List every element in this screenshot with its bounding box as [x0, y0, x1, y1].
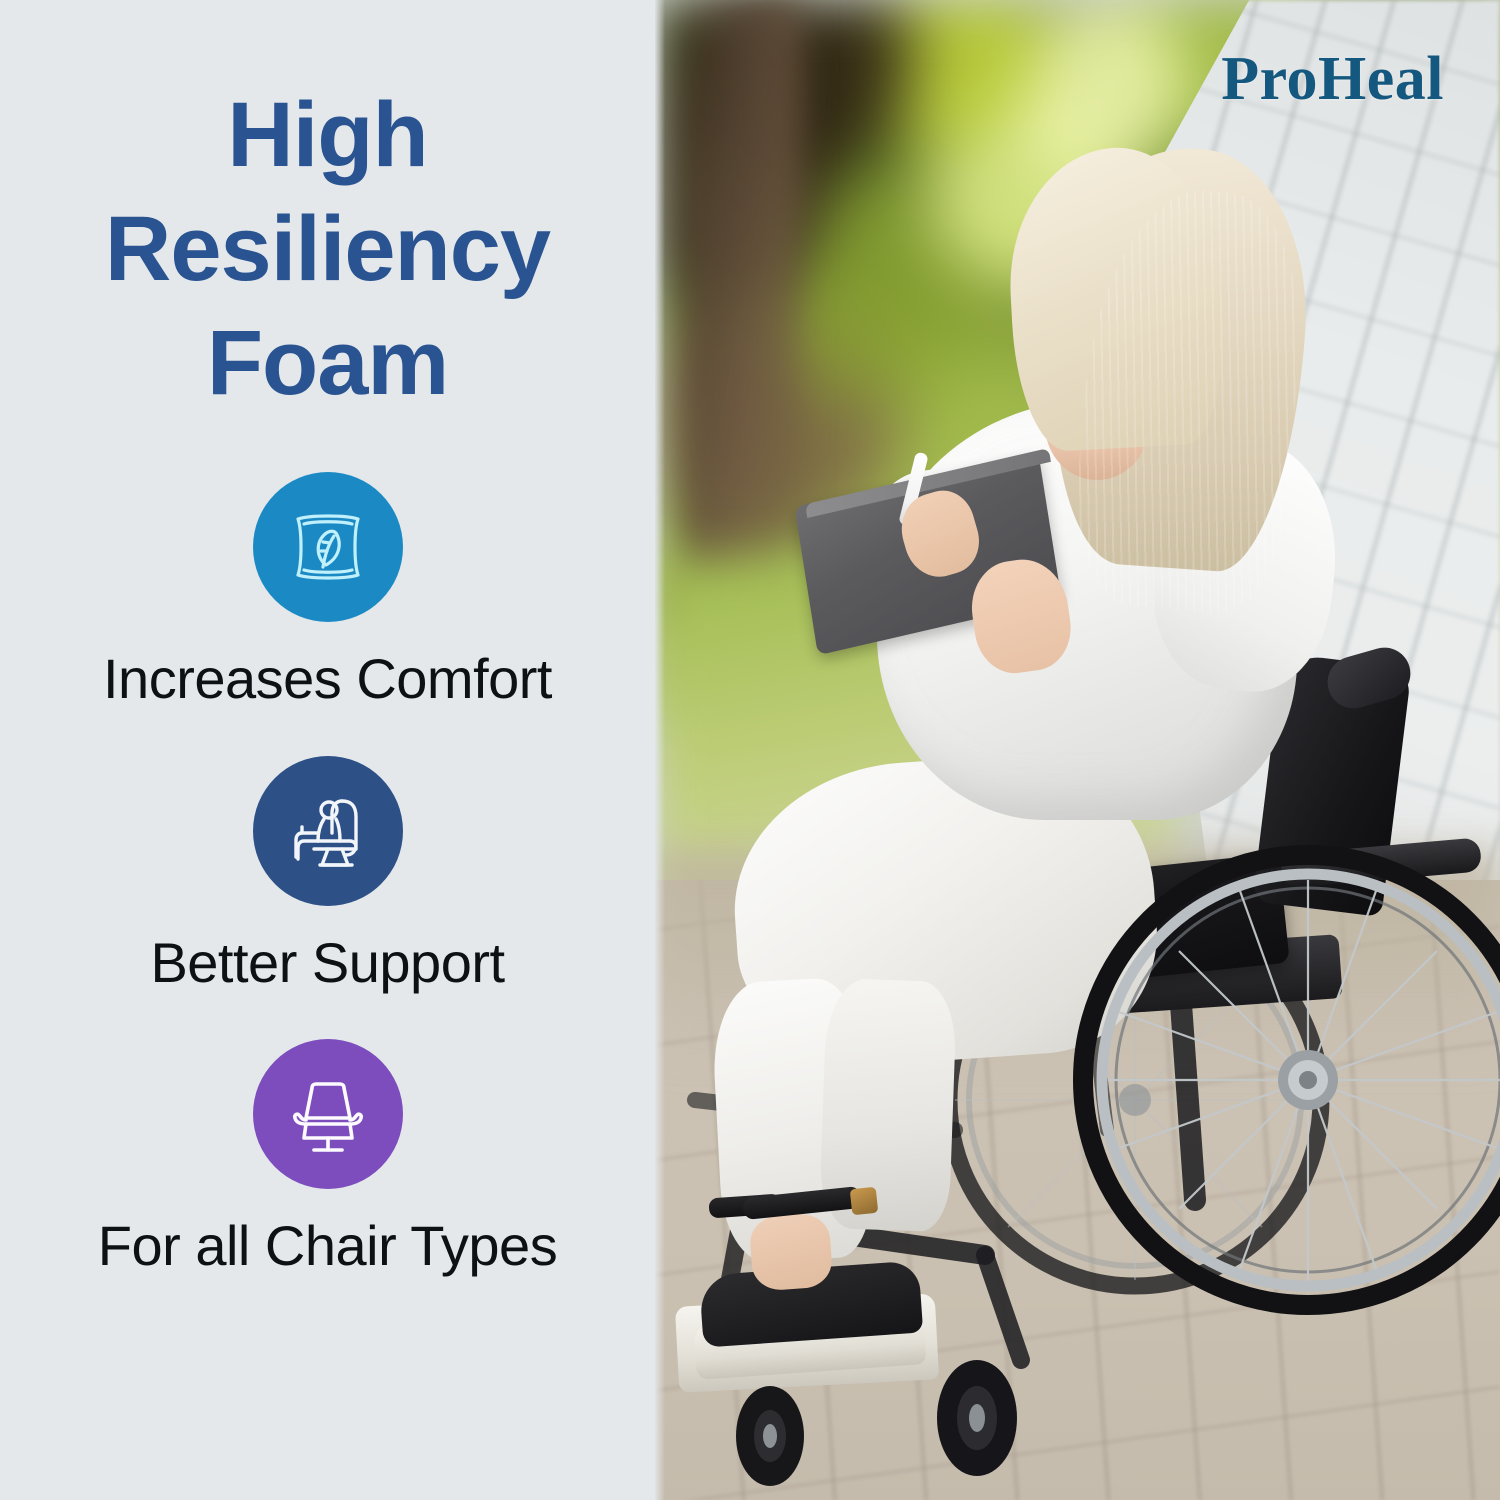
headline-line-3: Foam: [48, 306, 608, 420]
brand-logo: ProHeal: [1221, 48, 1444, 110]
person-ankle: [749, 1212, 834, 1291]
feature-list: Increases Comfort: [0, 472, 655, 1277]
headline-line-1: High: [48, 78, 608, 192]
left-info-panel: High Resiliency Foam: [0, 0, 655, 1500]
feature-item-better-support: Better Support: [0, 756, 655, 994]
feature-label-3: For all Chair Types: [98, 1215, 557, 1277]
wheelchair-rear-wheel: [1073, 845, 1500, 1315]
product-feature-graphic: High Resiliency Foam: [0, 0, 1500, 1500]
feature-item-for-all-chair-types: For all Chair Types: [0, 1039, 655, 1277]
office-chair-icon: [280, 1066, 376, 1162]
headline-line-2: Resiliency: [48, 192, 608, 306]
feature-item-increases-comfort: Increases Comfort: [0, 472, 655, 710]
sandal-buckle: [850, 1187, 879, 1216]
product-lifestyle-photo: ProHeal: [655, 0, 1500, 1500]
wheelchair-left-caster-wheel: [715, 1376, 825, 1488]
wheelchair-right-caster-wheel: [913, 1348, 1041, 1480]
background-tree-trunk: [683, 0, 803, 620]
cushion-leaf-icon: [280, 499, 376, 595]
person-seated-in-chair-icon: [280, 783, 376, 879]
feature-icon-badge-1: [253, 472, 403, 622]
photo-left-edge-fade: [655, 0, 665, 1500]
feature-icon-badge-3: [253, 1039, 403, 1189]
feature-label-2: Better Support: [150, 932, 504, 994]
page-title: High Resiliency Foam: [48, 78, 608, 420]
feature-label-1: Increases Comfort: [103, 648, 552, 710]
feature-icon-badge-2: [253, 756, 403, 906]
